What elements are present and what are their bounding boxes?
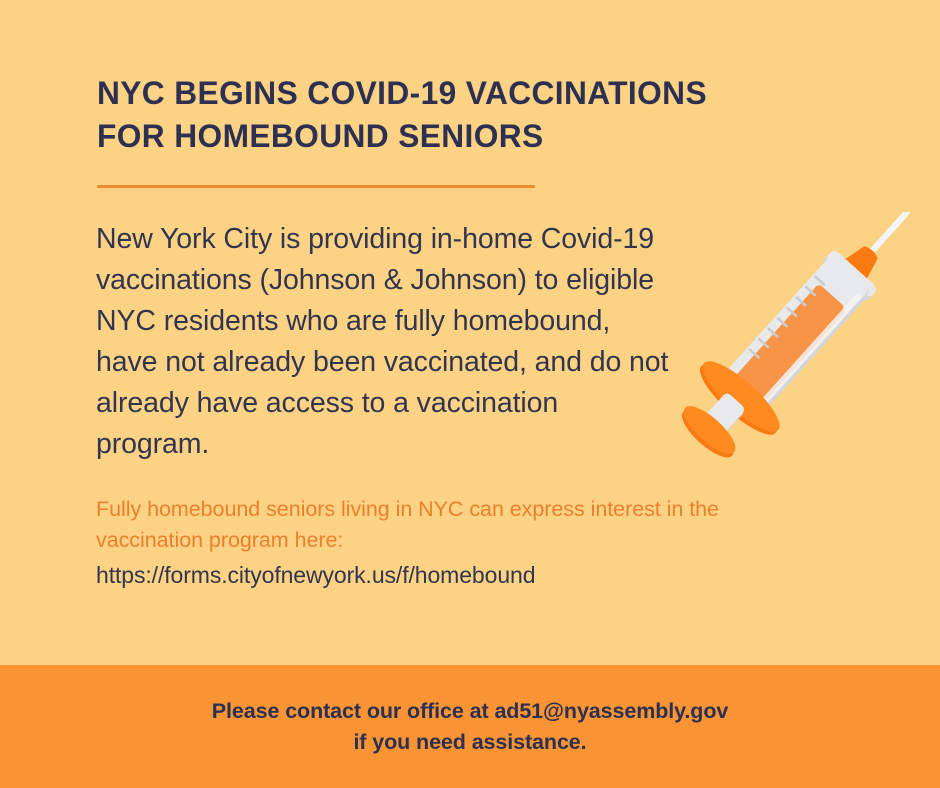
cta-url-link[interactable]: https://forms.cityofnewyork.us/f/homebou…	[96, 559, 736, 591]
footer-line-1: Please contact our office at ad51@nyasse…	[212, 696, 728, 727]
body-paragraph: New York City is providing in-home Covid…	[96, 219, 676, 465]
syringe-illustration-svg	[668, 212, 918, 462]
footer-line-2: if you need assistance.	[353, 727, 586, 758]
syringe-icon	[668, 212, 918, 462]
call-to-action-block: Fully homebound seniors living in NYC ca…	[96, 494, 736, 591]
footer-contact-bar: Please contact our office at ad51@nyasse…	[0, 665, 940, 788]
syringe-body-group	[668, 212, 918, 462]
cta-instruction-text: Fully homebound seniors living in NYC ca…	[96, 494, 736, 556]
divider-rule	[97, 185, 535, 188]
headline-line-1: NYC BEGINS COVID-19 VACCINATIONS	[97, 72, 790, 115]
headline-line-2: FOR HOMEBOUND SENIORS	[97, 115, 790, 158]
poster-canvas: NYC BEGINS COVID-19 VACCINATIONS FOR HOM…	[0, 0, 940, 788]
page-title: NYC BEGINS COVID-19 VACCINATIONS FOR HOM…	[97, 72, 797, 158]
